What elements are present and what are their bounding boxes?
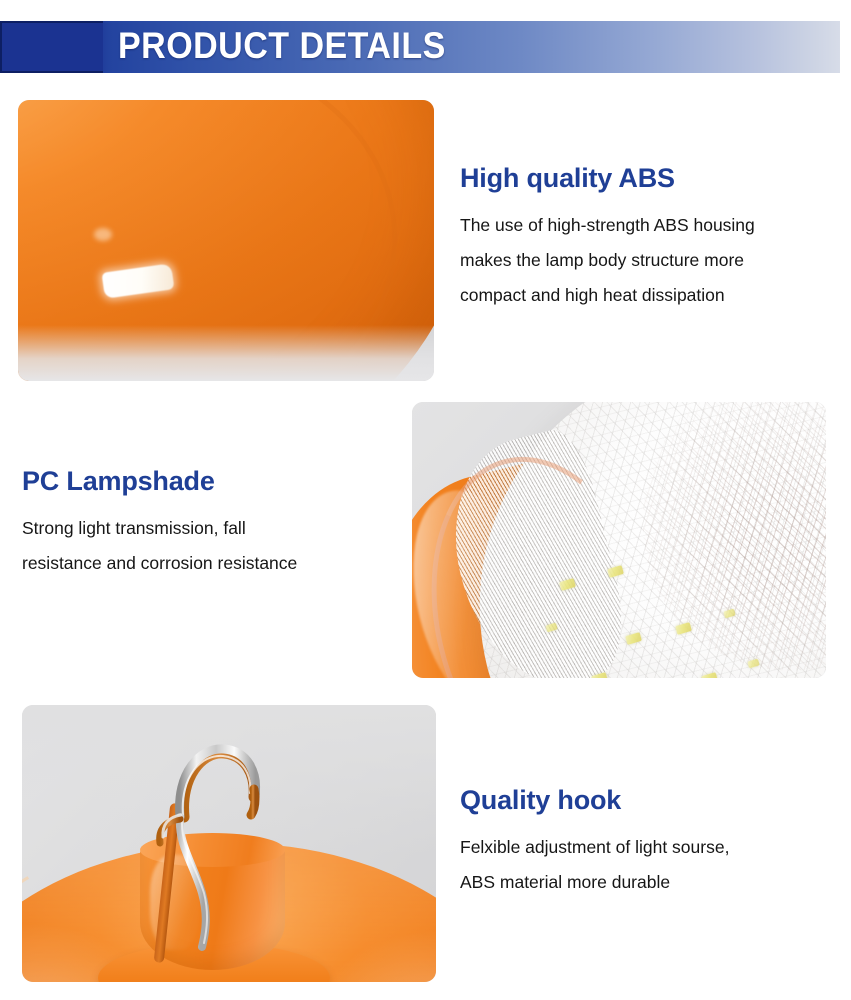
metal-hook-icon — [150, 725, 280, 955]
feature-heading-abs: High quality ABS — [460, 163, 840, 194]
feature-heading-lampshade: PC Lampshade — [22, 466, 392, 497]
photo-bottom-fade — [18, 325, 434, 381]
banner-left-accent-block — [0, 21, 103, 73]
product-photo-pc-lampshade — [412, 402, 826, 678]
page-title: PRODUCT DETAILS — [118, 21, 446, 73]
feature-line: resistance and corrosion resistance — [22, 546, 392, 581]
housing-soft-highlight — [94, 228, 112, 241]
feature-line: The use of high-strength ABS housing — [460, 208, 840, 243]
feature-text-abs: High quality ABS The use of high-strengt… — [460, 163, 840, 313]
feature-text-hook: Quality hook Felxible adjustment of ligh… — [460, 785, 840, 900]
feature-line: ABS material more durable — [460, 865, 840, 900]
product-photo-abs-housing — [18, 100, 434, 381]
product-photo-quality-hook — [22, 705, 436, 982]
feature-line: makes the lamp body structure more — [460, 243, 840, 278]
feature-line: Felxible adjustment of light sourse, — [460, 830, 840, 865]
feature-heading-hook: Quality hook — [460, 785, 840, 816]
feature-line: Strong light transmission, fall — [22, 511, 392, 546]
feature-text-lampshade: PC Lampshade Strong light transmission, … — [22, 466, 392, 581]
feature-line: compact and high heat dissipation — [460, 278, 840, 313]
page-header-banner: PRODUCT DETAILS — [0, 21, 840, 73]
